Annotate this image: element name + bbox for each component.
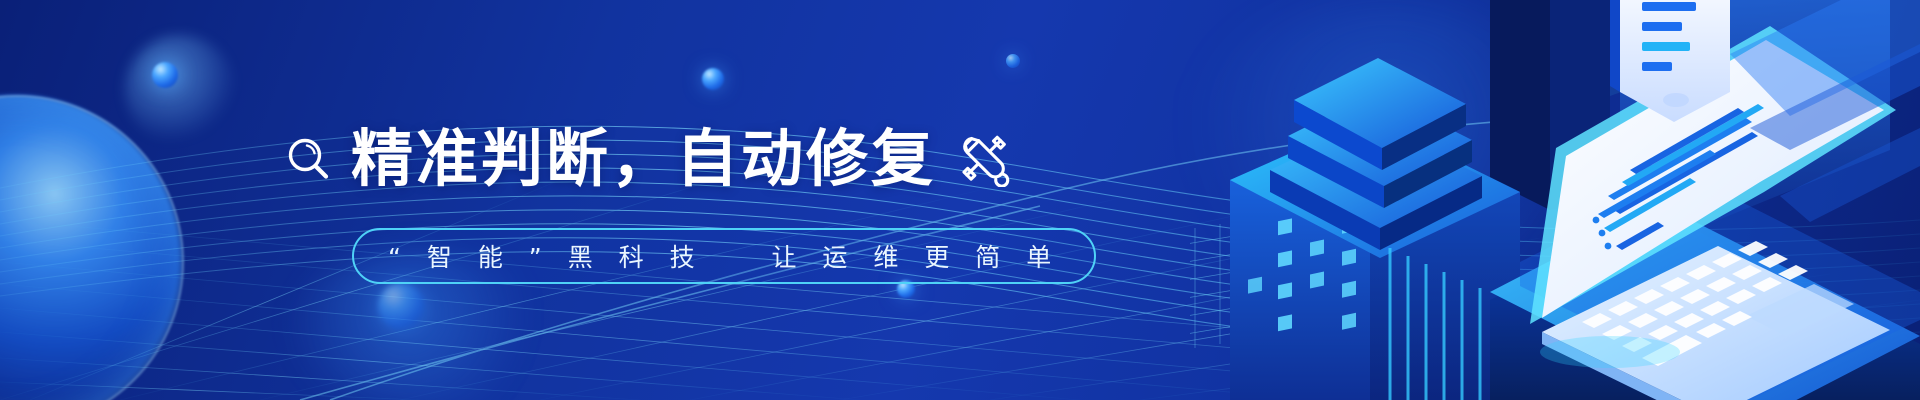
orb-small	[1006, 54, 1020, 68]
promo-banner: 精准判断，自动修复 “ 智 能 ” 黑 科 技 让 运 维 更 简 单	[0, 0, 1920, 400]
orb-bottom	[378, 283, 424, 329]
subtitle-pill: “ 智 能 ” 黑 科 技 让 运 维 更 简 单	[352, 228, 1096, 284]
orb-top-left	[152, 62, 178, 88]
subtitle-text: “ 智 能 ” 黑 科 技 让 运 维 更 简 单	[388, 238, 1060, 274]
headline-text: 精准判断，自动修复	[351, 128, 936, 190]
headline-group: 精准判断，自动修复	[285, 128, 1012, 190]
orb-top-mid	[702, 68, 724, 90]
wrench-screwdriver-icon	[956, 131, 1012, 187]
search-magnifier-icon	[285, 135, 331, 183]
isometric-illustration	[1190, 0, 1920, 400]
